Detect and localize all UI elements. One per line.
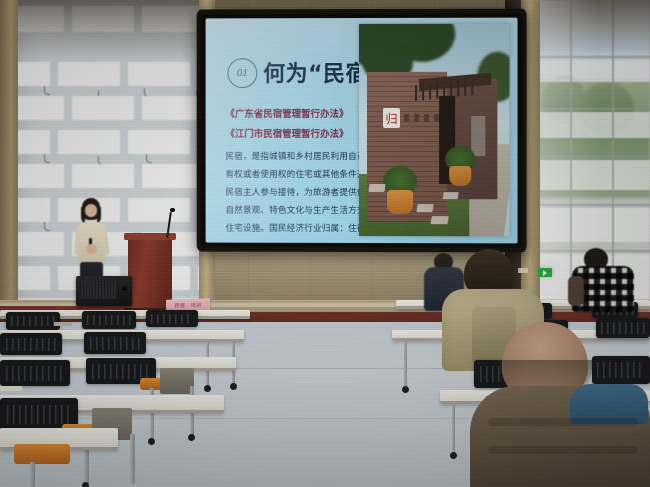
chair-left-2b bbox=[84, 332, 146, 354]
chair-left-1c bbox=[146, 310, 198, 327]
left-window-wall bbox=[14, 0, 210, 320]
regulation-title-2: 《江门市民宿管理暂行办法》 bbox=[225, 126, 348, 140]
chair-left-1a bbox=[6, 312, 60, 330]
item-on-table bbox=[54, 322, 72, 326]
regulation-title-1: 《广东省民宿管理暂行办法》 bbox=[225, 106, 348, 120]
slide-number-badge: 01 bbox=[227, 58, 257, 88]
projection-screen-frame: 01 何为“民宿”？ 《广东省民宿管理暂行办法》 《江门市民宿管理暂行办法》 民… bbox=[197, 9, 527, 253]
slide-photo-homestay: 归 bbox=[359, 24, 509, 237]
conference-room-scene: 01 何为“民宿”？ 《广东省民宿管理暂行办法》 《江门市民宿管理暂行办法》 民… bbox=[0, 0, 650, 487]
homestay-sign-characters bbox=[404, 114, 444, 122]
placard-text: 民宿 · 培训 bbox=[175, 302, 202, 310]
microphone-head bbox=[170, 208, 175, 212]
chair-left-3a bbox=[0, 360, 70, 386]
chair-left-2a bbox=[0, 333, 62, 355]
paper-on-table bbox=[0, 386, 22, 391]
homestay-logo: 归 bbox=[383, 108, 400, 128]
attendee-plaid-shirt bbox=[568, 248, 634, 310]
projected-slide: 01 何为“民宿”？ 《广东省民宿管理暂行办法》 《江门市民宿管理暂行办法》 民… bbox=[206, 18, 518, 244]
attendee-brown-vest bbox=[470, 322, 650, 487]
stage-monitor-speaker bbox=[76, 276, 132, 306]
chair-left-1b bbox=[82, 311, 136, 329]
left-wall-pillar bbox=[0, 0, 18, 330]
